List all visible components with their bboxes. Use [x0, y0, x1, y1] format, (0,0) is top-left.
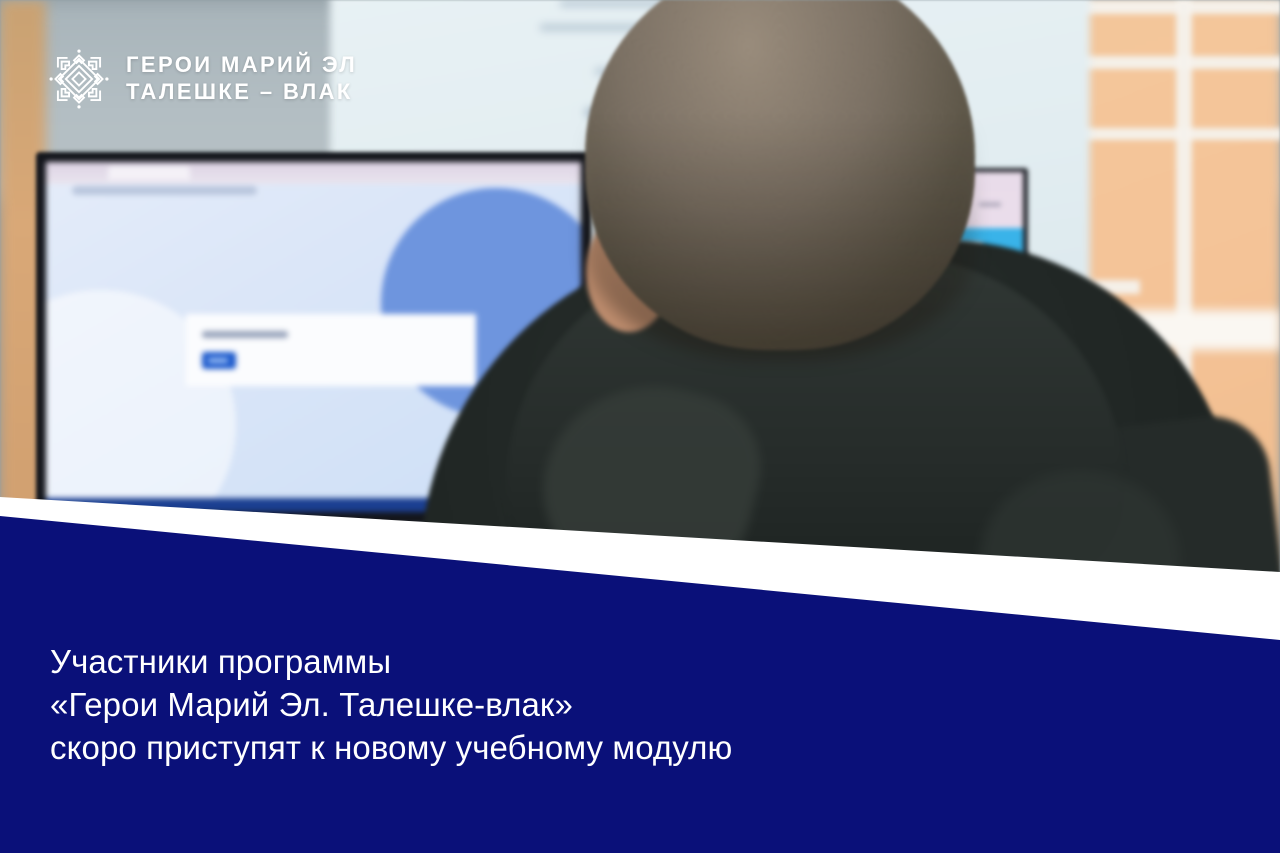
screen-primary-button [202, 352, 236, 369]
headline: Участники программы «Герои Марий Эл. Тал… [50, 640, 732, 769]
headline-line-2: «Герои Марий Эл. Талешке-влак» [50, 683, 732, 726]
headline-line-3: скоро приступят к новому учебному модулю [50, 726, 732, 769]
screen-login-card [186, 314, 476, 386]
person-head-shadow [585, 120, 975, 360]
browser-url-bar [72, 186, 257, 195]
headline-line-1: Участники программы [50, 640, 732, 683]
brand-logo[interactable]: ГЕРОИ МАРИЙ ЭЛ ТАЛЕШКЕ – ВЛАК [48, 48, 357, 110]
screen-card-label [202, 331, 288, 338]
browser-toolbar [46, 162, 581, 184]
poster: ГЕРОИ МАРИЙ ЭЛ ТАЛЕШКЕ – ВЛАК Участники … [0, 0, 1280, 853]
logo-line-1: ГЕРОИ МАРИЙ ЭЛ [126, 52, 357, 79]
logo-line-2: ТАЛЕШКЕ – ВЛАК [126, 79, 357, 106]
browser-tab [108, 166, 190, 180]
mari-ornament-icon [48, 48, 110, 110]
brand-logo-text: ГЕРОИ МАРИЙ ЭЛ ТАЛЕШКЕ – ВЛАК [126, 52, 357, 106]
